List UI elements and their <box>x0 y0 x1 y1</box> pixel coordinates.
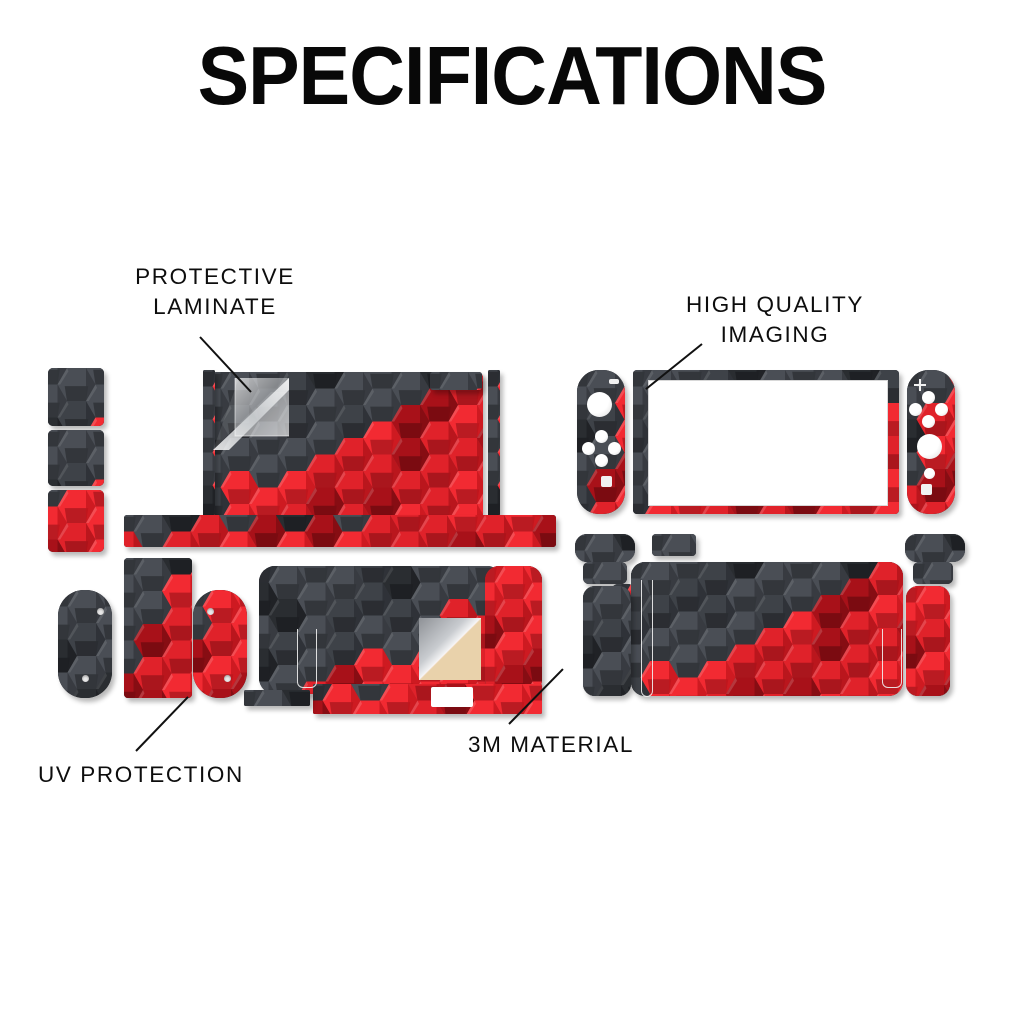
skin-piece-joycon-rail-left <box>124 558 192 698</box>
screen-cutout <box>648 380 888 506</box>
hex-pattern <box>193 590 247 698</box>
skin-piece-dock-top-edge <box>430 372 482 390</box>
callout-protective-laminate: PROTECTIVE LAMINATE <box>110 262 320 322</box>
skin-piece-strip-left-1 <box>48 368 104 426</box>
hex-pattern <box>488 370 500 520</box>
hex-pattern <box>124 558 192 698</box>
dpad-right <box>608 442 621 455</box>
dpad-left <box>582 442 595 455</box>
button-y <box>909 403 922 416</box>
callout-uv-protection: UV PROTECTION <box>38 760 278 790</box>
callout-high-quality-imaging: HIGH QUALITY IMAGING <box>655 290 895 350</box>
skin-piece-dock-back-left-tab <box>583 586 631 696</box>
screw-dot-1 <box>97 608 104 615</box>
skin-piece-strip-left-2 <box>48 430 104 486</box>
minus-button <box>609 379 619 384</box>
skin-piece-dock-base-strip <box>124 515 556 547</box>
hex-pattern <box>631 562 903 696</box>
plus-button <box>914 378 926 390</box>
skin-piece-console-back-strip <box>313 684 542 714</box>
hex-pattern <box>905 534 965 562</box>
skin-piece-dock-back-main <box>631 562 903 696</box>
kickstand-outline-left <box>297 629 317 688</box>
hex-pattern <box>48 430 104 486</box>
skin-piece-shoulder-left-a <box>575 534 635 562</box>
hex-pattern <box>203 370 215 520</box>
hex-pattern <box>575 534 635 562</box>
skin-piece-dock-side-left <box>203 370 215 520</box>
3m-material-peel <box>419 618 481 680</box>
hex-pattern <box>430 372 482 390</box>
skin-piece-strip-left-3 <box>48 490 104 552</box>
button-a <box>935 403 948 416</box>
hex-pattern <box>913 562 953 584</box>
hex-pattern <box>244 690 310 706</box>
skin-piece-dock-front-panel <box>211 372 483 520</box>
window-cutout <box>431 687 473 707</box>
skin-piece-dock-back-right-tab <box>906 586 950 696</box>
rail-outline-left <box>641 580 653 697</box>
hex-pattern <box>48 490 104 552</box>
skin-piece-shoulder-mid <box>652 534 696 556</box>
analog-stick-right <box>917 434 942 459</box>
dpad-up <box>595 430 608 443</box>
button-x <box>922 391 935 404</box>
hex-pattern <box>583 586 631 696</box>
screw-dot-2 <box>82 675 89 682</box>
square-button <box>921 484 932 495</box>
screw-dot-4 <box>224 675 231 682</box>
hex-pattern <box>211 372 483 520</box>
leader-line-uv-protection <box>135 696 188 751</box>
skin-piece-console-back-right <box>485 566 542 694</box>
button-b <box>922 415 935 428</box>
skin-piece-console-back-thin <box>244 690 310 706</box>
home-button <box>924 468 935 479</box>
skin-piece-shoulder-left-b <box>583 562 627 584</box>
skin-piece-dock-side-right <box>488 370 500 520</box>
callout-3m-material: 3M MATERIAL <box>468 730 688 760</box>
dpad-down <box>595 454 608 467</box>
screw-dot-3 <box>207 608 214 615</box>
page-title: SPECIFICATIONS <box>36 28 988 124</box>
hex-pattern <box>313 684 542 714</box>
kickstand-outline-right <box>882 629 902 688</box>
hex-pattern <box>48 368 104 426</box>
skin-piece-shoulder-right-a <box>905 534 965 562</box>
analog-stick-left <box>587 392 612 417</box>
skin-piece-shoulder-right-b <box>913 562 953 584</box>
specifications-graphic: SPECIFICATIONS <box>0 0 1024 1024</box>
skin-piece-grip-right-rail <box>193 590 247 698</box>
hex-pattern <box>124 515 556 547</box>
hex-pattern <box>583 562 627 584</box>
hex-pattern <box>906 586 950 696</box>
capture-button <box>601 476 612 487</box>
hex-pattern <box>652 534 696 556</box>
hex-pattern <box>485 566 542 694</box>
